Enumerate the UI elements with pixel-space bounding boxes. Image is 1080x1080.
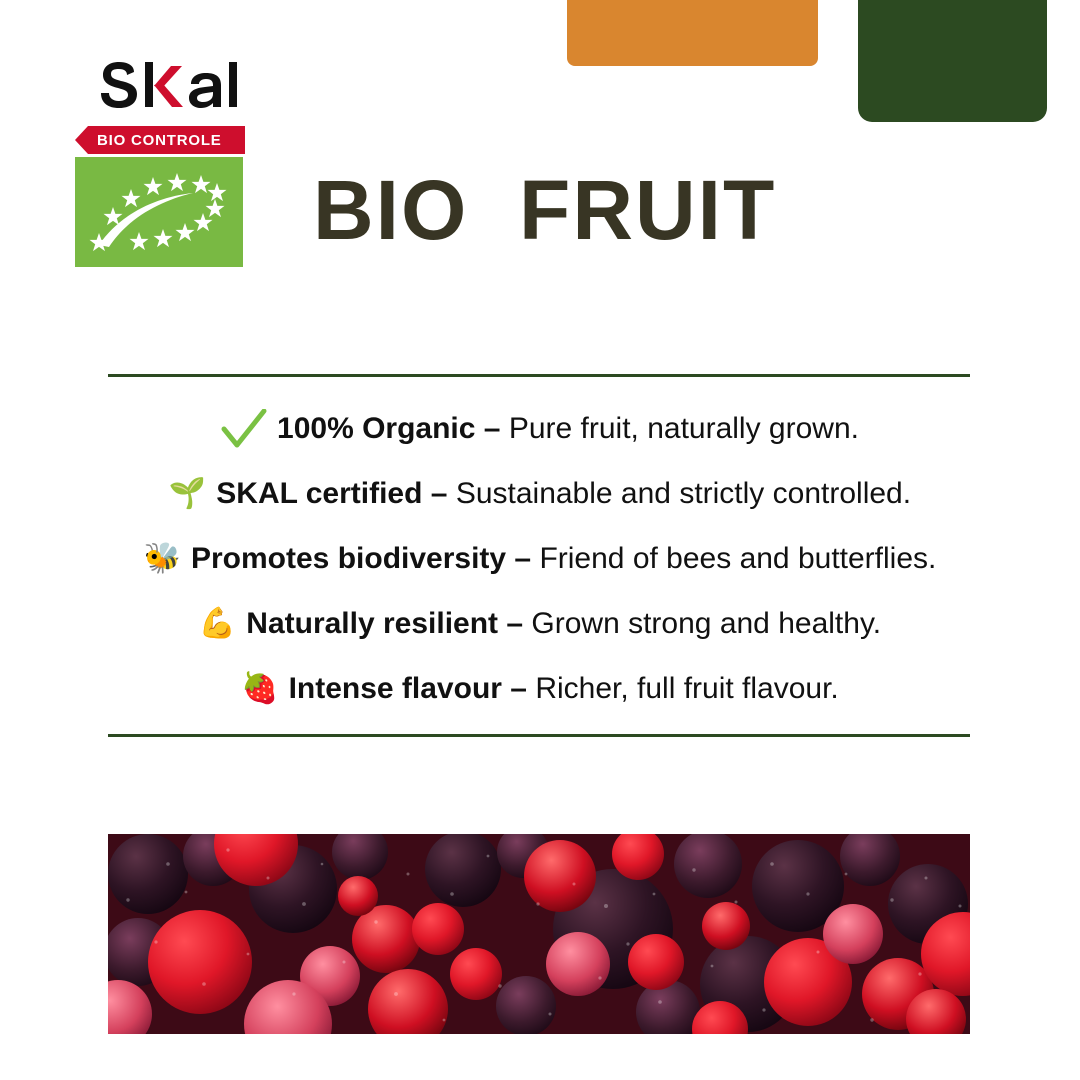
list-item-detail: Friend of bees and butterflies.	[539, 542, 936, 575]
list-item-title: Naturally resilient	[246, 607, 498, 640]
list-item-title: SKAL certified	[216, 477, 422, 510]
strawberry-icon: 🍓	[241, 674, 278, 704]
list-item: 100% Organic – Pure fruit, naturally gro…	[0, 396, 1080, 461]
list-item-title: Intense flavour	[289, 672, 502, 705]
list-item: 🐝 Promotes biodiversity – Friend of bees…	[0, 526, 1080, 591]
list-item-detail: Sustainable and strictly controlled.	[456, 477, 911, 510]
flexed-biceps-icon: 💪	[199, 609, 236, 639]
check-mark-icon	[221, 409, 267, 449]
bio-controle-banner: BIO CONTROLE	[75, 126, 245, 154]
eu-organic-leaf-icon	[75, 157, 243, 267]
list-item-dash: –	[502, 672, 535, 705]
list-item: 💪 Naturally resilient – Grown strong and…	[0, 591, 1080, 656]
list-item-dash: –	[498, 607, 531, 640]
list-item-dash: –	[506, 542, 539, 575]
list-item-text: Intense flavour – Richer, full fruit fla…	[289, 672, 839, 705]
list-item-text: Promotes biodiversity – Friend of bees a…	[191, 542, 936, 575]
green-accent-block	[858, 0, 1047, 122]
divider-bottom	[108, 734, 970, 737]
list-item-detail: Grown strong and healthy.	[531, 607, 881, 640]
list-item-text: Naturally resilient – Grown strong and h…	[246, 607, 881, 640]
orange-accent-block	[567, 0, 818, 66]
list-item: 🌱 SKAL certified – Sustainable and stric…	[0, 461, 1080, 526]
list-item-title: 100% Organic	[277, 412, 475, 445]
page-title: BIO FRUIT	[313, 168, 776, 252]
seedling-icon: 🌱	[169, 479, 206, 509]
list-item-dash: –	[475, 412, 508, 445]
list-item: 🍓 Intense flavour – Richer, full fruit f…	[0, 656, 1080, 721]
list-item-text: SKAL certified – Sustainable and strictl…	[216, 477, 911, 510]
list-item-dash: –	[422, 477, 455, 510]
divider-top	[108, 374, 970, 377]
benefits-list: 100% Organic – Pure fruit, naturally gro…	[0, 396, 1080, 721]
skal-logo: BIO CONTROLE	[75, 62, 325, 267]
poster-canvas: BIO CONTROLE	[0, 0, 1080, 1080]
skal-wordmark	[101, 62, 325, 118]
list-item-detail: Pure fruit, naturally grown.	[509, 412, 859, 445]
bio-controle-label: BIO CONTROLE	[75, 132, 222, 149]
list-item-title: Promotes biodiversity	[191, 542, 506, 575]
list-item-detail: Richer, full fruit flavour.	[535, 672, 838, 705]
berry-photo	[108, 834, 970, 1034]
list-item-text: 100% Organic – Pure fruit, naturally gro…	[277, 412, 859, 445]
honeybee-icon: 🐝	[144, 544, 181, 574]
